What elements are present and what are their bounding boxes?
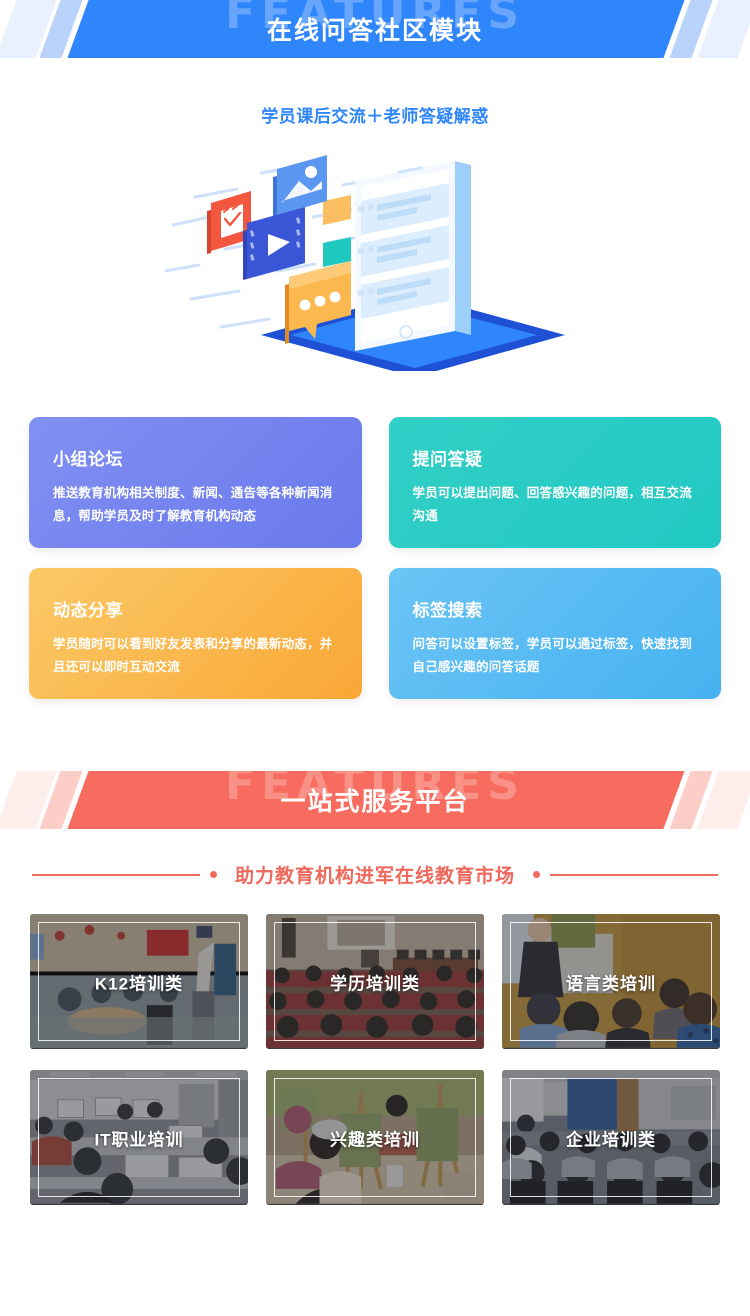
tile-caption: 兴趣类培训: [266, 1125, 484, 1150]
tagline-row: 助力教育机构进军在线教育市场: [0, 861, 750, 888]
feature-card-desc: 问答可以设置标签，学员可以通过标签，快速找到自己感兴趣的问答话题: [413, 633, 698, 679]
training-tile-interest[interactable]: 兴趣类培训: [266, 1070, 484, 1205]
feature-card-tag-search[interactable]: 标签搜索 问答可以设置标签，学员可以通过标签，快速找到自己感兴趣的问答话题: [389, 568, 722, 699]
training-tile-degree[interactable]: 学历培训类: [266, 914, 484, 1049]
feature-card-title: 动态分享: [53, 596, 338, 621]
feature-card-group-forum[interactable]: 小组论坛 推送教育机构相关制度、新闻、通告等各种新闻消息，帮助学员及时了解教育机…: [29, 417, 362, 548]
tagline-dot-left: [210, 871, 217, 878]
feature-card-title: 小组论坛: [53, 445, 338, 470]
tagline-rule-left: [32, 874, 200, 876]
illustration-container: [0, 139, 750, 371]
feature-cards-grid: 小组论坛 推送教育机构相关制度、新闻、通告等各种新闻消息，帮助学员及时了解教育机…: [29, 417, 721, 699]
training-tile-it[interactable]: IT职业培训: [30, 1070, 248, 1205]
tile-caption: 学历培训类: [266, 969, 484, 994]
training-tile-k12[interactable]: K12培训类: [30, 914, 248, 1049]
banner-title: 在线问答社区模块: [0, 11, 750, 47]
feature-card-feed-share[interactable]: 动态分享 学员随时可以看到好友发表和分享的最新动态，并且还可以即时互动交流: [29, 568, 362, 699]
tagline-text: 助力教育机构进军在线教育市场: [227, 861, 523, 888]
tile-caption: IT职业培训: [30, 1125, 248, 1150]
tagline-rule-right: [550, 874, 718, 876]
banner-title: 一站式服务平台: [0, 782, 750, 818]
feature-card-title: 提问答疑: [413, 445, 698, 470]
feature-card-title: 标签搜索: [413, 596, 698, 621]
feature-card-desc: 学员随时可以看到好友发表和分享的最新动态，并且还可以即时互动交流: [53, 633, 338, 679]
training-tile-enterprise[interactable]: 企业培训类: [502, 1070, 720, 1205]
feature-card-desc: 推送教育机构相关制度、新闻、通告等各种新闻消息，帮助学员及时了解教育机构动态: [53, 482, 338, 528]
section-header-one-stop: FEATURES 一站式服务平台: [0, 771, 750, 829]
section-header-online-qa: FEATURES 在线问答社区模块: [0, 0, 750, 58]
training-tile-language[interactable]: 语言类培训: [502, 914, 720, 1049]
training-category-grid: K12培训类: [30, 914, 720, 1205]
tagline-dot-right: [533, 871, 540, 878]
feature-card-desc: 学员可以提出问题、回答感兴趣的问题，相互交流沟通: [413, 482, 698, 528]
isometric-phone-chat-illustration: [165, 139, 585, 371]
section-one-stop-platform: FEATURES 一站式服务平台 助力教育机构进军在线教育市场: [0, 771, 750, 1205]
tile-caption: 语言类培训: [502, 969, 720, 994]
feature-card-qa[interactable]: 提问答疑 学员可以提出问题、回答感兴趣的问题，相互交流沟通: [389, 417, 722, 548]
phone-list: [361, 183, 449, 319]
tile-caption: 企业培训类: [502, 1125, 720, 1150]
page-root: FEATURES 在线问答社区模块 学员课后交流＋老师答疑解惑: [0, 0, 750, 1316]
tile-caption: K12培训类: [30, 969, 248, 994]
section-subtitle: 学员课后交流＋老师答疑解惑: [0, 102, 750, 127]
